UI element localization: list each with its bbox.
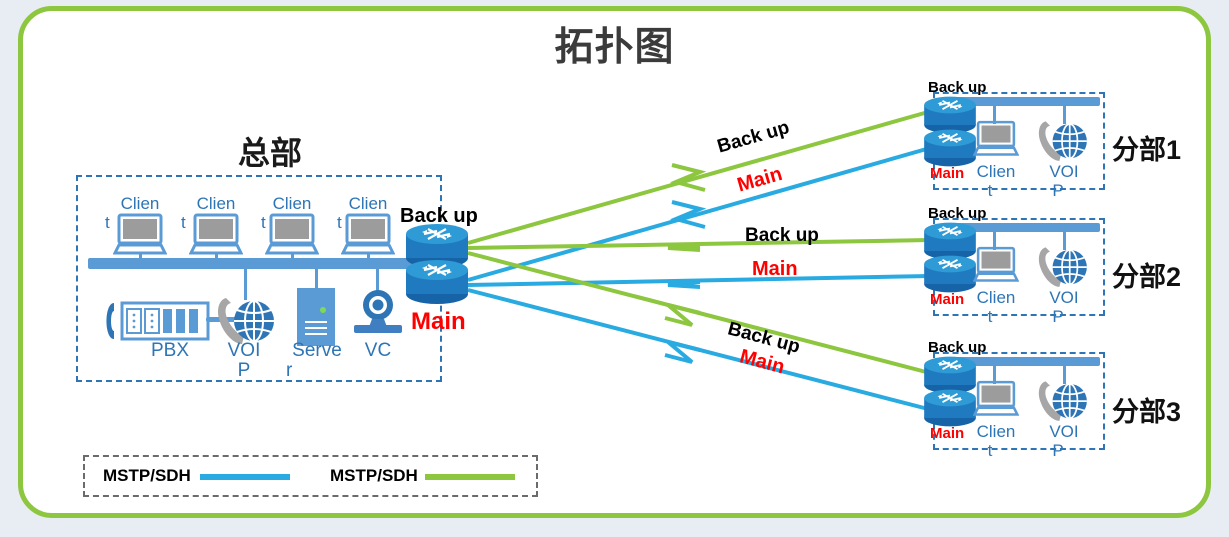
hq-server-drop bbox=[315, 265, 318, 289]
hq-backup-label: Back up bbox=[400, 205, 478, 228]
branch3-voip-label2: P bbox=[1046, 441, 1070, 460]
branch1-voip-label: VOI bbox=[1033, 162, 1095, 181]
hq-voip-drop bbox=[244, 265, 247, 300]
hq-server-label: Serve bbox=[286, 341, 348, 360]
legend-item-1-label: MSTP/SDH bbox=[103, 466, 191, 486]
branch1-lan-bar bbox=[948, 97, 1100, 106]
branch1-backup-label: Back up bbox=[928, 79, 986, 96]
branch3-client-label: Clien bbox=[965, 422, 1027, 441]
hq-client-1-drop bbox=[139, 253, 142, 263]
hq-client-1-label: Clien bbox=[105, 194, 175, 213]
branch1-main-label: Main bbox=[930, 165, 964, 182]
page-title: 拓扑图 bbox=[0, 16, 1229, 72]
branch3-client-drop bbox=[993, 364, 996, 384]
hq-vc-label: VC bbox=[348, 341, 408, 360]
branch3-main-label: Main bbox=[930, 425, 964, 442]
branch2-voip-drop bbox=[1063, 230, 1066, 250]
branch2-lan-bar bbox=[948, 223, 1100, 232]
branch1-voip-label2: P bbox=[1046, 181, 1070, 200]
branch3-voip-label: VOI bbox=[1033, 422, 1095, 441]
branch3-client-label2: t bbox=[978, 441, 1002, 460]
hq-client-3-label: Clien bbox=[257, 194, 327, 213]
branch3-title: 分部3 bbox=[1112, 390, 1181, 429]
legend-item-2-swatch bbox=[425, 474, 515, 480]
hq-vc-drop bbox=[376, 265, 379, 293]
branch1-client-label2: t bbox=[978, 181, 1002, 200]
branch2-voip-label2: P bbox=[1046, 307, 1070, 326]
topology-diagram: 拓扑图 Bac bbox=[0, 0, 1229, 537]
hq-client-2-label: Clien bbox=[181, 194, 251, 213]
hq-client-2-drop bbox=[215, 253, 218, 263]
headquarters-lan-bar bbox=[88, 258, 458, 269]
branch2-client-drop bbox=[993, 230, 996, 250]
branch2-client-label: Clien bbox=[965, 288, 1027, 307]
branch2-backup-label: Back up bbox=[928, 205, 986, 222]
branch3-voip-drop bbox=[1063, 364, 1066, 384]
hq-client-4-label: Clien bbox=[333, 194, 403, 213]
branch3-backup-label: Back up bbox=[928, 339, 986, 356]
branch1-voip-drop bbox=[1063, 104, 1066, 124]
legend-item-2-label: MSTP/SDH bbox=[330, 466, 418, 486]
hq-voip-label: VOI bbox=[214, 341, 274, 360]
hq-voip-label2: P bbox=[214, 361, 274, 380]
branch2-main-label: Main bbox=[930, 291, 964, 308]
branch3-lan-bar bbox=[948, 357, 1100, 366]
hq-client-4-drop bbox=[367, 253, 370, 263]
link-branch2-backup-label: Back up bbox=[745, 225, 819, 247]
branch2-title: 分部2 bbox=[1112, 255, 1181, 294]
link-branch2-main-label: Main bbox=[752, 258, 798, 281]
headquarters-title: 总部 bbox=[170, 128, 370, 174]
branch1-client-drop bbox=[993, 104, 996, 124]
hq-client-3-label2: t bbox=[261, 213, 285, 232]
branch1-title: 分部1 bbox=[1112, 128, 1181, 167]
branch1-client-label: Clien bbox=[965, 162, 1027, 181]
hq-client-1-label2: t bbox=[105, 213, 129, 232]
hq-server-label2: r bbox=[286, 361, 322, 380]
hq-client-2-label2: t bbox=[181, 213, 205, 232]
hq-pbx-label: PBX bbox=[140, 341, 200, 360]
branch2-voip-label: VOI bbox=[1033, 288, 1095, 307]
hq-client-3-drop bbox=[291, 253, 294, 263]
hq-main-label: Main bbox=[411, 308, 466, 336]
branch2-client-label2: t bbox=[978, 307, 1002, 326]
hq-client-4-label2: t bbox=[337, 213, 361, 232]
legend-item-1-swatch bbox=[200, 474, 290, 480]
hq-pbx-voip-link bbox=[206, 317, 240, 322]
